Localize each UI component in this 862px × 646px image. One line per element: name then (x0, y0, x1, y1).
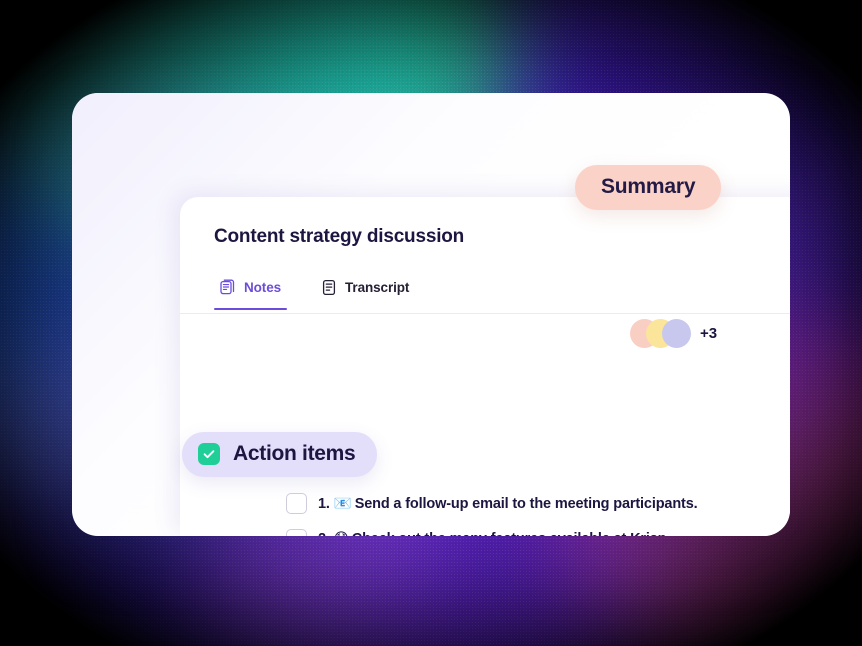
participants-overflow-count: +3 (700, 325, 717, 342)
screaming-face-emoji: 😱 (334, 531, 349, 536)
action-items-label: Action items (233, 442, 355, 466)
action-items-list: 1.📧Send a follow-up email to the meeting… (286, 485, 790, 536)
tab-notes-label: Notes (244, 280, 281, 295)
list-item-number: 2. (318, 531, 330, 536)
participants-group[interactable]: +3 (630, 319, 717, 348)
list-item-number: 1. (318, 496, 330, 512)
list-item-text: 1.📧Send a follow-up email to the meeting… (318, 495, 698, 512)
tab-notes[interactable]: Notes (214, 275, 291, 306)
action-items-header[interactable]: Action items (182, 432, 377, 477)
check-square-icon (198, 443, 220, 465)
tab-transcript-label: Transcript (345, 280, 409, 295)
checkbox[interactable] (286, 529, 307, 537)
list-item[interactable]: 2.😱Check out the many features available… (286, 521, 790, 536)
app-card: Content strategy discussion Summary +3 (72, 93, 790, 536)
panel-tabs: Notes Transcript (214, 275, 419, 306)
panel-header: Content strategy discussion Summary +3 (180, 197, 790, 313)
checkbox[interactable] (286, 493, 307, 514)
panel-divider (180, 313, 790, 314)
summary-badge[interactable]: Summary (575, 165, 721, 210)
avatar (662, 319, 691, 348)
screenshot-stage: Content strategy discussion Summary +3 (0, 0, 862, 646)
tab-transcript[interactable]: Transcript (315, 275, 419, 306)
notes-icon (220, 279, 236, 296)
list-item-body: Check out the many features available at… (352, 531, 667, 536)
list-item-text: 2.😱Check out the many features available… (318, 531, 666, 536)
email-emoji: 📧 (334, 496, 352, 512)
page-title: Content strategy discussion (214, 227, 790, 246)
list-item-body: Send a follow-up email to the meeting pa… (355, 496, 698, 512)
list-item[interactable]: 1.📧Send a follow-up email to the meeting… (286, 485, 790, 521)
transcript-icon (321, 279, 337, 296)
